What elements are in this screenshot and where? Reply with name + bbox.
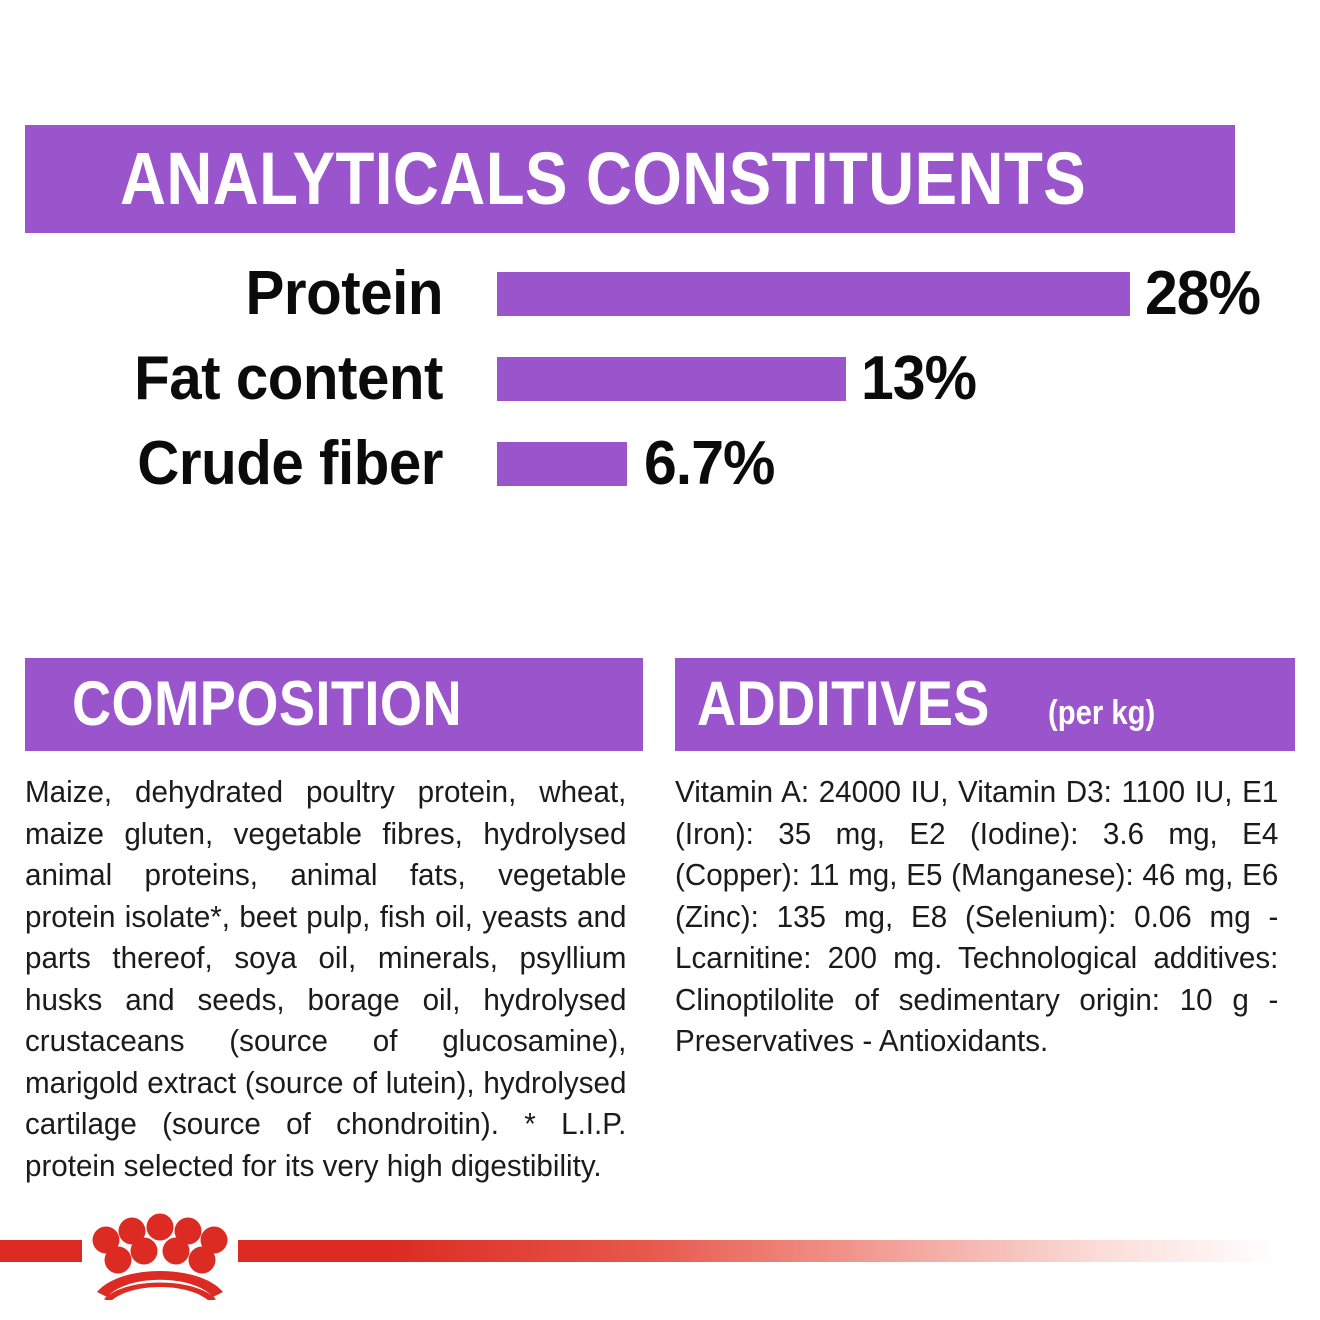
additives-title: ADDITIVES [697, 673, 990, 736]
brand-bar-left [0, 1240, 82, 1262]
chart-bar-protein [497, 272, 1130, 316]
additives-header: ADDITIVES (per kg) [675, 658, 1295, 751]
chart-bar-fat-content [497, 357, 846, 401]
chart-label-fat-content: Fat content [27, 357, 443, 401]
brand-bar-right [238, 1240, 1320, 1262]
chart-value-fat-content: 13% [861, 357, 976, 401]
analyticals-bar-chart: Protein 28% Fat content 13% Crude fiber … [0, 268, 1320, 508]
chart-label-protein: Protein [27, 272, 443, 316]
additives-per-kg-label: (per kg) [1048, 696, 1155, 730]
chart-row: Fat content 13% [0, 357, 1320, 401]
royal-canin-crown-icon [80, 1198, 240, 1300]
analyticals-constituents-title: ANALYTICALS CONSTITUENTS [120, 142, 1086, 216]
composition-header: COMPOSITION [25, 658, 643, 751]
additives-body-text: Vitamin A: 24000 IU, Vitamin D3: 1100 IU… [675, 772, 1278, 1063]
chart-value-protein: 28% [1145, 272, 1260, 316]
analyticals-constituents-header: ANALYTICALS CONSTITUENTS [25, 125, 1235, 233]
chart-bar-crude-fiber [497, 442, 627, 486]
chart-row: Crude fiber 6.7% [0, 442, 1320, 486]
chart-value-crude-fiber: 6.7% [644, 442, 774, 486]
composition-title: COMPOSITION [72, 673, 462, 736]
chart-label-crude-fiber: Crude fiber [27, 442, 443, 486]
chart-row: Protein 28% [0, 272, 1320, 316]
composition-body-text: Maize, dehydrated poultry protein, wheat… [25, 772, 626, 1187]
